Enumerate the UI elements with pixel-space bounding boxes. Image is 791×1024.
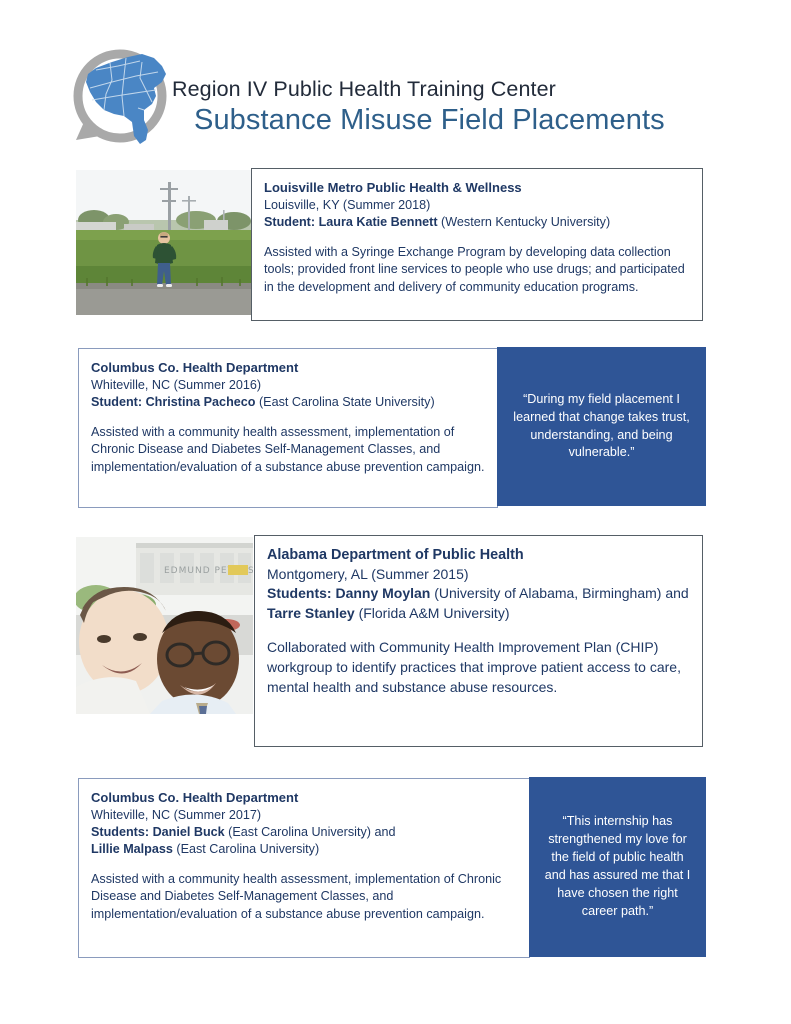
organization-name: Columbus Co. Health Department [91,789,517,807]
student-quote-panel: “During my field placement I learned tha… [497,347,706,506]
page-header: Region IV Public Health Training Center … [0,0,791,155]
title-line-1: Region IV Public Health Training Center [172,78,732,101]
organization-name: Louisville Metro Public Health & Wellnes… [264,179,690,197]
placement-details-box: Columbus Co. Health Department Whitevill… [78,778,530,958]
student-affiliation-2: (East Carolina University) [176,842,319,856]
student-affiliation: (East Carolina State University) [259,395,435,409]
student-quote-panel: “This internship has strengthened my lov… [529,777,706,957]
placement-details-box: Alabama Department of Public Health Mont… [254,535,703,747]
placement-description: Collaborated with Community Health Impro… [267,638,690,698]
student-line: Students: Danny Moylan (University of Al… [267,584,690,623]
placement-description: Assisted with a Syringe Exchange Program… [264,244,690,297]
location-and-term: Louisville, KY (Summer 2018) [264,197,690,214]
student-name-1: Daniel Buck [153,825,225,839]
student-label: Students: [267,585,332,601]
student-line: Students: Daniel Buck (East Carolina Uni… [91,824,517,858]
student-quote-text: “During my field placement I learned tha… [511,391,692,463]
placement-details-box: Columbus Co. Health Department Whitevill… [78,348,498,508]
page-title: Region IV Public Health Training Center … [172,78,732,136]
placement-description: Assisted with a community health assessm… [91,871,517,924]
organization-name: Alabama Department of Public Health [267,546,690,565]
student-label: Student: [264,215,315,229]
organization-name: Columbus Co. Health Department [91,359,485,377]
student-label: Students: [91,825,149,839]
placement-details-box: Louisville Metro Public Health & Wellnes… [251,168,703,321]
student-name-1: Danny Moylan [335,585,430,601]
student-quote-text: “This internship has strengthened my lov… [543,813,692,920]
title-line-2: Substance Misuse Field Placements [194,104,732,136]
student-line: Student: Christina Pacheco (East Carolin… [91,394,485,411]
placement-photo: EDMUND PETTUS BRIDGE [76,537,253,714]
location-and-term: Whiteville, NC (Summer 2016) [91,377,485,394]
student-name: Laura Katie Bennett [319,215,438,229]
student-affiliation-1: (East Carolina University) and [228,825,395,839]
student-line: Student: Laura Katie Bennett (Western Ke… [264,214,690,231]
region-iv-southeast-map-logo-icon [66,44,178,152]
student-affiliation-1: (University of Alabama, Birmingham) [434,585,661,601]
student-name-2: Tarre Stanley [267,605,355,621]
location-and-term: Montgomery, AL (Summer 2015) [267,565,690,584]
student-affiliation: (Western Kentucky University) [441,215,610,229]
location-and-term: Whiteville, NC (Summer 2017) [91,807,517,824]
student-label: Student: [91,395,142,409]
placement-photo [76,170,251,315]
student-affiliation-2: (Florida A&M University) [359,605,510,621]
student-name-2: Lillie Malpass [91,842,173,856]
student-name: Christina Pacheco [146,395,256,409]
placement-description: Assisted with a community health assessm… [91,424,485,477]
